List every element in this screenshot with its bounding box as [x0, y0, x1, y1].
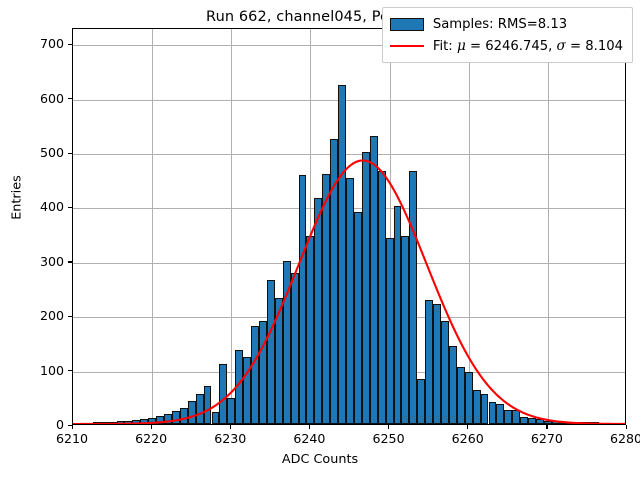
legend-entry-samples: Samples: RMS=8.13 [390, 14, 623, 35]
x-tick-mark [230, 425, 231, 429]
legend-label-fit: Fit: μ = 6246.745, σ = 8.104 [433, 38, 623, 54]
x-tick-label: 6220 [111, 431, 191, 446]
legend-fit-sigma-symbol: σ [557, 38, 566, 54]
x-tick-label: 6260 [428, 431, 508, 446]
y-tick-label: 700 [0, 36, 64, 51]
legend-label-samples: Samples: RMS=8.13 [433, 17, 567, 32]
x-tick-mark [546, 425, 547, 429]
legend-patch-swatch-icon [390, 18, 424, 31]
chart-legend: Samples: RMS=8.13 Fit: μ = 6246.745, σ =… [382, 7, 633, 63]
legend-fit-prefix: Fit: [433, 39, 457, 54]
legend-fit-mu-value: = 6246.745, [466, 39, 557, 54]
y-tick-label: 200 [0, 308, 64, 323]
y-tick-label: 100 [0, 363, 64, 378]
y-tick-label: 600 [0, 91, 64, 106]
legend-fit-mu-symbol: μ [457, 38, 466, 54]
x-tick-mark [151, 425, 152, 429]
plot-area [72, 28, 626, 425]
x-tick-mark [626, 425, 627, 429]
x-tick-label: 6210 [32, 431, 112, 446]
legend-line-swatch-icon [390, 39, 424, 52]
x-tick-mark [309, 425, 310, 429]
legend-entry-fit: Fit: μ = 6246.745, σ = 8.104 [390, 35, 623, 56]
gaussian-fit-curve [73, 29, 625, 424]
x-tick-label: 6270 [507, 431, 587, 446]
y-tick-label: 300 [0, 254, 64, 269]
x-axis-label: ADC Counts [0, 452, 640, 467]
legend-fit-sigma-value: = 8.104 [566, 39, 623, 54]
x-tick-mark [72, 425, 73, 429]
x-tick-label: 6240 [269, 431, 349, 446]
x-tick-label: 6280 [586, 431, 640, 446]
y-tick-label: 500 [0, 145, 64, 160]
matplotlib-figure: Run 662, channel045, Pedestal Entries AD… [0, 0, 640, 480]
x-tick-mark [467, 425, 468, 429]
x-tick-label: 6250 [349, 431, 429, 446]
y-tick-label: 0 [0, 417, 64, 432]
x-tick-label: 6230 [190, 431, 270, 446]
x-tick-mark [388, 425, 389, 429]
y-tick-label: 400 [0, 199, 64, 214]
